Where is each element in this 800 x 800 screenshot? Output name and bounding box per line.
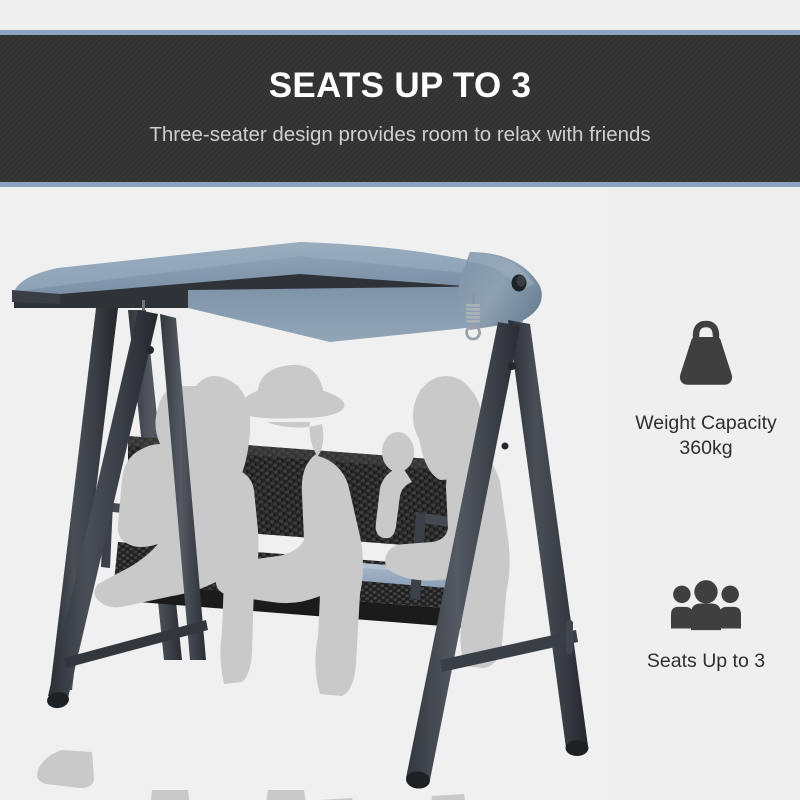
frame-leg-right-outer — [508, 320, 588, 748]
banner-body: SEATS UP TO 3 Three-seater design provid… — [0, 35, 800, 182]
feature-list: Weight Capacity 360kg Seats Up to 3 — [612, 190, 800, 800]
feature-weight-capacity-value: 360kg — [612, 436, 800, 461]
foot-cap-right-outer — [566, 740, 589, 756]
swing-chair-illustration — [0, 190, 610, 800]
feature-seat-count-label: Seats Up to 3 — [612, 649, 800, 674]
page-title: SEATS UP TO 3 — [269, 68, 532, 103]
cross-brace-left — [64, 620, 208, 668]
feature-weight-capacity: Weight Capacity 360kg — [612, 315, 800, 461]
product-feature-panel: SEATS UP TO 3 Three-seater design provid… — [0, 0, 800, 800]
feature-seat-count: Seats Up to 3 — [612, 575, 800, 674]
frame-bolt-right — [508, 362, 516, 370]
header-banner: SEATS UP TO 3 Three-seater design provid… — [0, 30, 800, 187]
feature-weight-capacity-label: Weight Capacity — [612, 411, 800, 436]
frame-bolt-left — [146, 346, 154, 354]
banner-bottom-rule — [0, 182, 800, 187]
canopy-cap-bolt-inner — [517, 276, 526, 287]
brace-bracket-right — [566, 620, 573, 654]
group-of-three-people-icon — [666, 575, 746, 637]
weight-icon — [666, 315, 746, 395]
frame-bolt-right-lower — [502, 443, 509, 450]
page-subtitle: Three-seater design provides room to rel… — [149, 125, 650, 146]
product-image — [0, 190, 610, 800]
